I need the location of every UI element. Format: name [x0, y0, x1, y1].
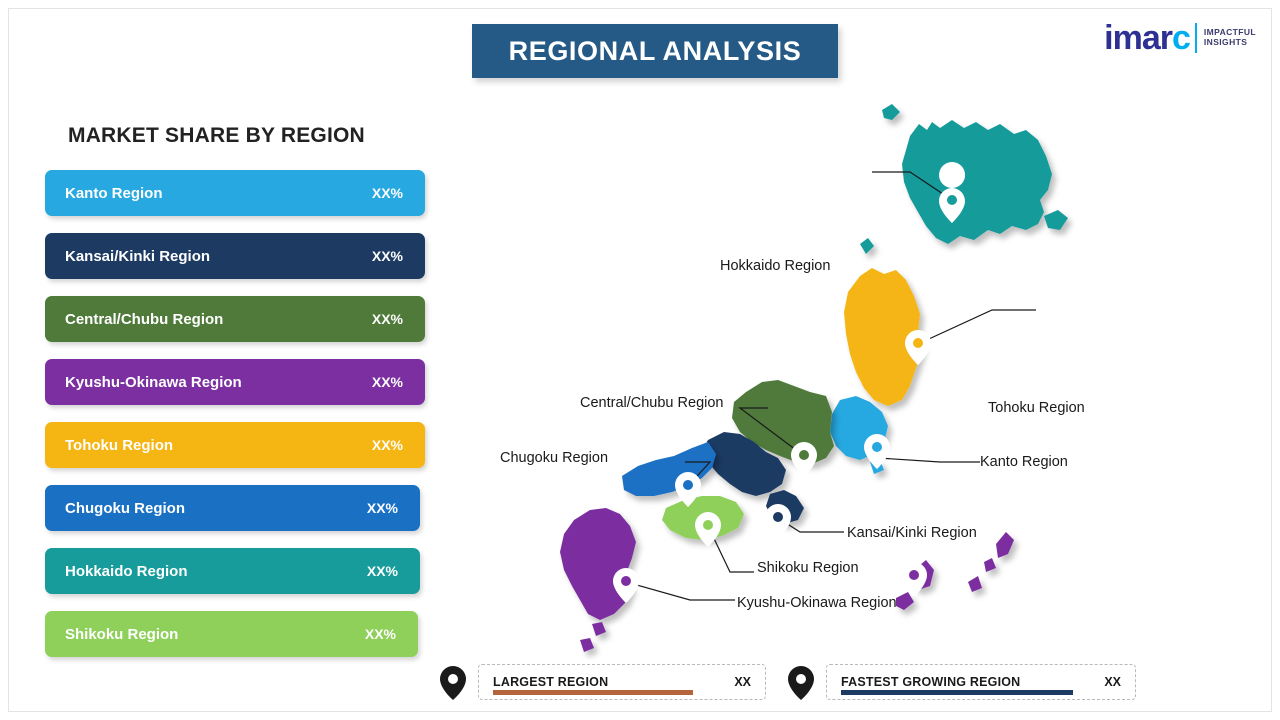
page-title: REGIONAL ANALYSIS — [472, 24, 838, 78]
region-bar-label: Kanto Region — [65, 185, 163, 202]
logo-tagline: IMPACTFUL INSIGHTS — [1204, 28, 1256, 48]
page-title-text: REGIONAL ANALYSIS — [509, 36, 802, 67]
region-bar-kanto[interactable]: Kanto Region XX% — [45, 170, 425, 216]
map-label-kanto: Kanto Region — [980, 454, 1068, 470]
largest-region-label: LARGEST REGION — [493, 675, 608, 689]
map-label-kyushu-okinawa: Kyushu-Okinawa Region — [737, 595, 897, 611]
region-bar-value: XX% — [372, 248, 403, 264]
region-bar-label: Central/Chubu Region — [65, 311, 223, 328]
fastest-growing-region-box[interactable]: FASTEST GROWING REGION XX — [826, 664, 1136, 700]
region-bar-label: Tohoku Region — [65, 437, 173, 454]
map-label-tohoku: Tohoku Region — [988, 400, 1085, 416]
region-bar-label: Shikoku Region — [65, 626, 178, 643]
japan-map-svg — [440, 100, 1270, 660]
region-bar-label: Kyushu-Okinawa Region — [65, 374, 242, 391]
pin-okinawa — [901, 562, 927, 597]
map-label-kansai-kinki: Kansai/Kinki Region — [847, 525, 977, 541]
region-bar-value: XX% — [372, 374, 403, 390]
region-bar-label: Kansai/Kinki Region — [65, 248, 210, 265]
map-label-shikoku: Shikoku Region — [757, 560, 859, 576]
fastest-growing-region-value: XX — [1104, 675, 1121, 689]
market-share-heading: MARKET SHARE BY REGION — [68, 124, 365, 148]
pin-kanto — [864, 434, 890, 469]
logo-wordmark: imarc — [1104, 19, 1190, 58]
region-bar-label: Chugoku Region — [65, 500, 185, 517]
map-label-hokkaido: Hokkaido Region — [720, 258, 830, 274]
region-bar-tohoku[interactable]: Tohoku Region XX% — [45, 422, 425, 468]
fastest-growing-region-label: FASTEST GROWING REGION — [841, 675, 1020, 689]
region-bar-kansai-kinki[interactable]: Kansai/Kinki Region XX% — [45, 233, 425, 279]
region-bar-label: Hokkaido Region — [65, 563, 188, 580]
region-bar-hokkaido[interactable]: Hokkaido Region XX% — [45, 548, 420, 594]
region-bar-shikoku[interactable]: Shikoku Region XX% — [45, 611, 418, 657]
region-bar-value: XX% — [372, 437, 403, 453]
logo-wordmark-text: imar — [1104, 19, 1172, 57]
region-bar-central-chubu[interactable]: Central/Chubu Region XX% — [45, 296, 425, 342]
largest-region-pin-icon — [440, 666, 466, 700]
region-bar-value: XX% — [372, 311, 403, 327]
fastest-growing-region-bar — [841, 690, 1073, 695]
map-label-central-chubu: Central/Chubu Region — [580, 395, 723, 411]
logo-divider — [1195, 23, 1197, 53]
region-bar-value: XX% — [372, 185, 403, 201]
map-region-chugoku[interactable] — [622, 442, 716, 496]
region-bar-kyushu-okinawa[interactable]: Kyushu-Okinawa Region XX% — [45, 359, 425, 405]
largest-region-bar — [493, 690, 693, 695]
largest-region-box[interactable]: LARGEST REGION XX — [478, 664, 766, 700]
imarc-logo: imarc IMPACTFUL INSIGHTS — [1104, 18, 1256, 58]
pin-kansai-kinki — [765, 504, 791, 539]
region-bar-value: XX% — [365, 626, 396, 642]
japan-map: Hokkaido Region Tohoku Region Central/Ch… — [440, 100, 1270, 660]
region-bar-value: XX% — [367, 563, 398, 579]
largest-region-value: XX — [734, 675, 751, 689]
logo-wordmark-accent: c — [1172, 19, 1190, 57]
region-bar-chugoku[interactable]: Chugoku Region XX% — [45, 485, 420, 531]
fastest-growing-region-pin-icon — [788, 666, 814, 700]
logo-tagline-line2: INSIGHTS — [1204, 38, 1256, 48]
footer-legend: LARGEST REGION XX FASTEST GROWING REGION… — [432, 664, 1142, 706]
map-label-chugoku: Chugoku Region — [500, 450, 608, 466]
region-bar-value: XX% — [367, 500, 398, 516]
market-share-bar-list: Kanto Region XX% Kansai/Kinki Region XX%… — [45, 170, 435, 674]
pin-shikoku — [695, 512, 721, 547]
pin-central-chubu — [791, 442, 817, 477]
